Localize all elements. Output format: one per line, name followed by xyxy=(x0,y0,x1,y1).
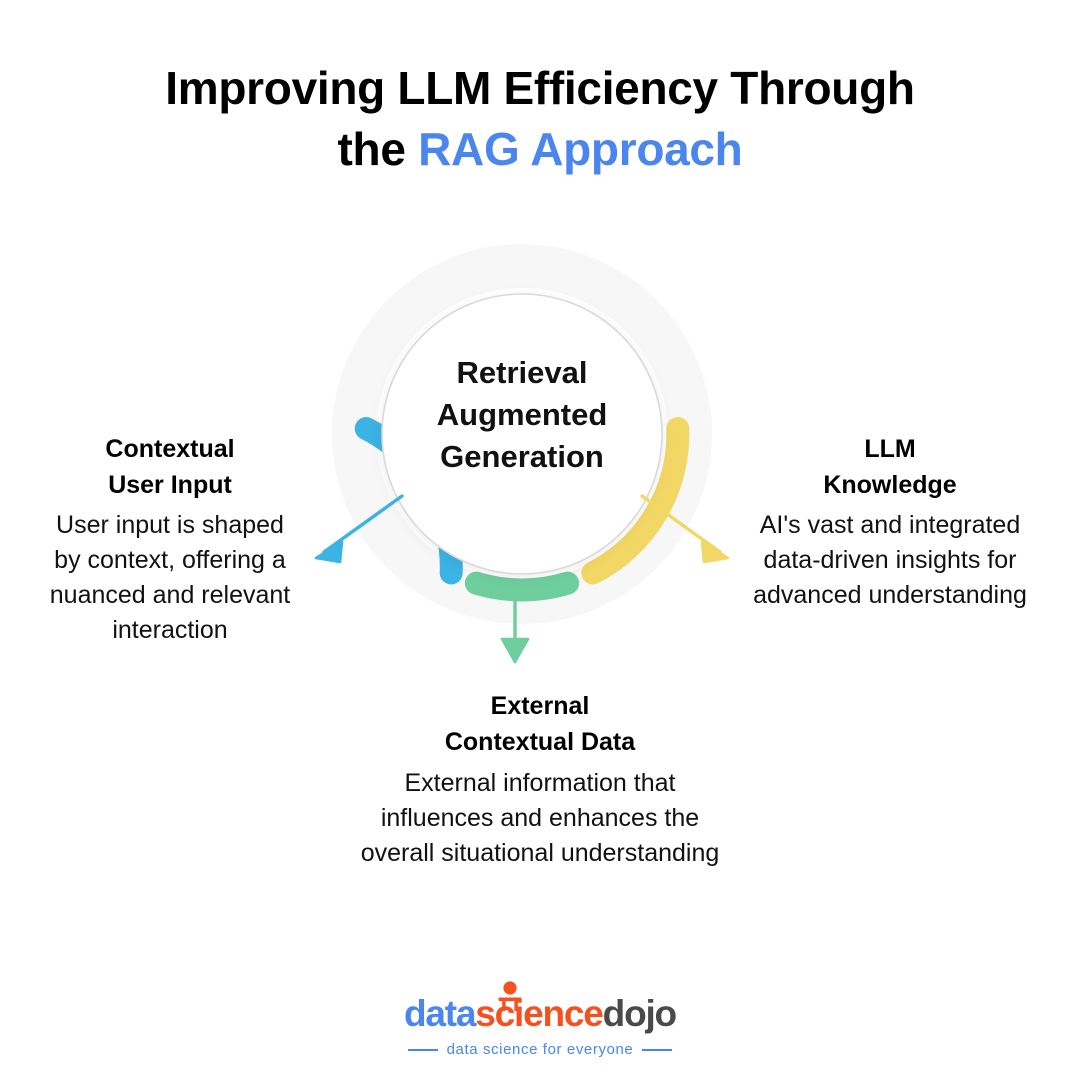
page-title-line-2-plain: the xyxy=(338,123,419,175)
callout-bottom-heading-line-2: Contextual Data xyxy=(230,724,850,760)
callout-right-body: AI's vast and integrated data-driven ins… xyxy=(700,508,1080,613)
logo-word-data: data xyxy=(404,993,475,1034)
callout-right-heading-line-2: Knowledge xyxy=(700,468,1080,504)
callout-right-heading: LLM Knowledge xyxy=(700,432,1080,503)
callout-left-heading-line-1: Contextual xyxy=(0,432,340,468)
callout-left-body-line-4: interaction xyxy=(0,613,340,648)
callout-bottom-heading-line-1: External xyxy=(230,688,850,724)
callout-contextual-user-input: Contextual User Input User input is shap… xyxy=(0,432,340,648)
logo-dash-left xyxy=(408,1049,438,1051)
callout-right-body-line-1: AI's vast and integrated xyxy=(700,508,1080,543)
page-title: Improving LLM Efficiency Through the RAG… xyxy=(0,58,1080,179)
callout-external-contextual-data: External Contextual Data External inform… xyxy=(230,688,850,871)
callout-left-body-line-2: by context, offering a xyxy=(0,543,340,578)
callout-left-heading: Contextual User Input xyxy=(0,432,340,503)
callout-right-body-line-3: advanced understanding xyxy=(700,578,1080,613)
callout-bottom-body-line-3: overall situational understanding xyxy=(230,836,850,871)
hub-circle xyxy=(382,294,662,574)
arc-external-contextual-data xyxy=(476,583,567,590)
rag-cycle-diagram xyxy=(272,184,772,684)
logo-wordmark: datasciencedojo xyxy=(404,995,676,1032)
logo-word-dojo: dojo xyxy=(603,993,676,1034)
logo-tagline-row: data science for everyone xyxy=(0,1041,1080,1058)
logo-word-science: science xyxy=(475,993,602,1034)
callout-left-body: User input is shaped by context, offerin… xyxy=(0,508,340,648)
callout-right-body-line-2: data-driven insights for xyxy=(700,543,1080,578)
logo-dash-right xyxy=(642,1049,672,1051)
logo-tagline: data science for everyone xyxy=(447,1041,634,1058)
callout-left-body-line-3: nuanced and relevant xyxy=(0,578,340,613)
page-title-accent: RAG Approach xyxy=(418,123,742,175)
callout-bottom-heading: External Contextual Data xyxy=(230,688,850,761)
brand-logo: datasciencedojo data science for everyon… xyxy=(0,995,1080,1058)
dojo-figure-icon xyxy=(496,980,524,1010)
callout-bottom-body-line-1: External information that xyxy=(230,766,850,801)
callout-bottom-body-line-2: influences and enhances the xyxy=(230,801,850,836)
page-title-line-2: the RAG Approach xyxy=(0,119,1080,180)
callout-left-body-line-1: User input is shaped xyxy=(0,508,340,543)
callout-right-heading-line-1: LLM xyxy=(700,432,1080,468)
callout-left-heading-line-2: User Input xyxy=(0,468,340,504)
callout-llm-knowledge: LLM Knowledge AI's vast and integrated d… xyxy=(700,432,1080,613)
callout-bottom-body: External information that influences and… xyxy=(230,766,850,871)
page-title-line-1: Improving LLM Efficiency Through xyxy=(0,58,1080,119)
